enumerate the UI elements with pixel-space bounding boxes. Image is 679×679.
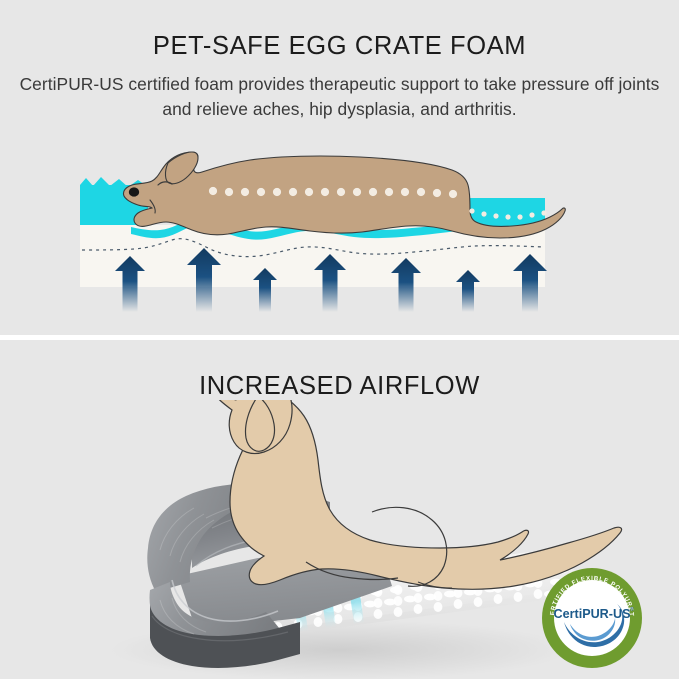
section-pet-safe-egg-crate-foam: PET-SAFE EGG CRATE FOAM CertiPUR-US cert… <box>0 0 679 336</box>
product-infographic: PET-SAFE EGG CRATE FOAM CertiPUR-US cert… <box>0 0 679 679</box>
dog-lying-on-foam-cross-section <box>0 130 679 336</box>
badge-registered-mark: ® <box>630 606 634 613</box>
page-title-egg-crate-foam: PET-SAFE EGG CRATE FOAM <box>0 32 679 61</box>
dog-nose <box>129 187 139 196</box>
section-increased-airflow: INCREASED AIRFLOW <box>0 340 679 679</box>
certipur-us-badge: CONTAINS CERTIFIED FLEXIBLE POLYURETHANE… <box>540 566 644 670</box>
memory-foam-right <box>470 198 545 226</box>
page-title-increased-airflow: INCREASED AIRFLOW <box>0 372 679 401</box>
badge-center-text: CertiPUR-US <box>554 607 631 621</box>
description-egg-crate-foam: CertiPUR-US certified foam provides ther… <box>18 72 661 122</box>
